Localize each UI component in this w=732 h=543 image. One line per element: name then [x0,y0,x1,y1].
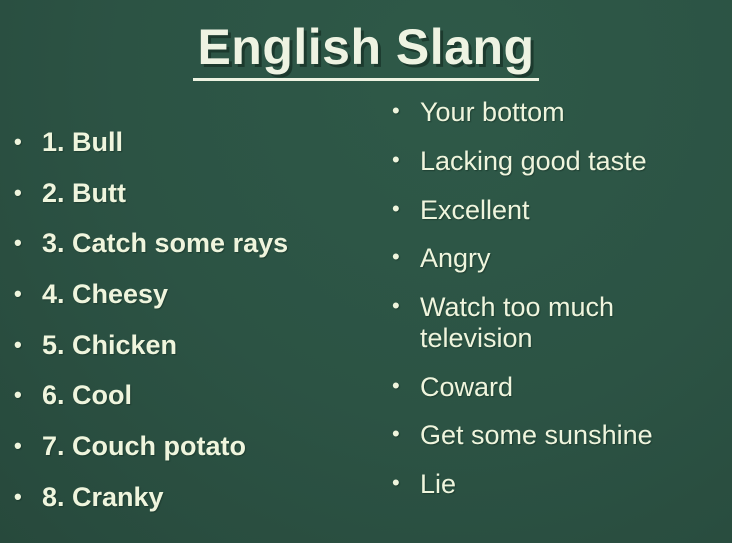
bullet-icon: • [14,280,30,308]
slide-canvas: English Slang • 1. Bull • 2. Butt • 3. C… [0,0,732,543]
list-item: • Coward [392,372,728,403]
list-item-label: Watch too much television [420,292,728,354]
bullet-icon: • [14,128,30,156]
bullet-icon: • [392,146,408,174]
slang-definitions-column: • Your bottom • Lacking good taste • Exc… [392,97,728,518]
title-block: English Slang [0,20,732,81]
list-item: • Lie [392,469,728,500]
page-title: English Slang [193,20,538,81]
list-item: • Your bottom [392,97,728,128]
bullet-icon: • [392,372,408,400]
list-item-label: 8. Cranky [42,483,394,513]
list-item-label: 5. Chicken [42,331,394,361]
list-item-label: 4. Cheesy [42,280,394,310]
bullet-icon: • [392,420,408,448]
list-item-label: Excellent [420,195,728,226]
list-item-label: 6. Cool [42,381,394,411]
list-item: • Lacking good taste [392,146,728,177]
bullet-icon: • [14,483,30,511]
bullet-icon: • [392,195,408,223]
list-item: • 6. Cool [14,381,394,411]
bullet-icon: • [392,97,408,125]
list-item-label: 1. Bull [42,128,394,158]
bullet-icon: • [392,243,408,271]
list-item: • Watch too much television [392,292,728,354]
list-item: • Angry [392,243,728,274]
list-item: • Get some sunshine [392,420,728,451]
bullet-icon: • [14,179,30,207]
list-item: • Excellent [392,195,728,226]
list-item: • 2. Butt [14,179,394,209]
list-item-label: 2. Butt [42,179,394,209]
list-item-label: Angry [420,243,728,274]
list-item: • 7. Couch potato [14,432,394,462]
list-item: • 3. Catch some rays [14,229,394,259]
list-item-label: 3. Catch some rays [42,229,394,259]
list-item-label: Coward [420,372,728,403]
list-item: • 1. Bull [14,128,394,158]
bullet-icon: • [392,469,408,497]
bullet-icon: • [392,292,408,320]
list-item-label: Lie [420,469,728,500]
slang-terms-column: • 1. Bull • 2. Butt • 3. Catch some rays… [14,128,394,534]
list-item: • 5. Chicken [14,331,394,361]
list-item-label: 7. Couch potato [42,432,394,462]
bullet-icon: • [14,331,30,359]
list-item: • 4. Cheesy [14,280,394,310]
list-item: • 8. Cranky [14,483,394,513]
list-item-label: Your bottom [420,97,728,128]
bullet-icon: • [14,229,30,257]
list-item-label: Lacking good taste [420,146,728,177]
list-item-label: Get some sunshine [420,420,728,451]
bullet-icon: • [14,432,30,460]
bullet-icon: • [14,381,30,409]
